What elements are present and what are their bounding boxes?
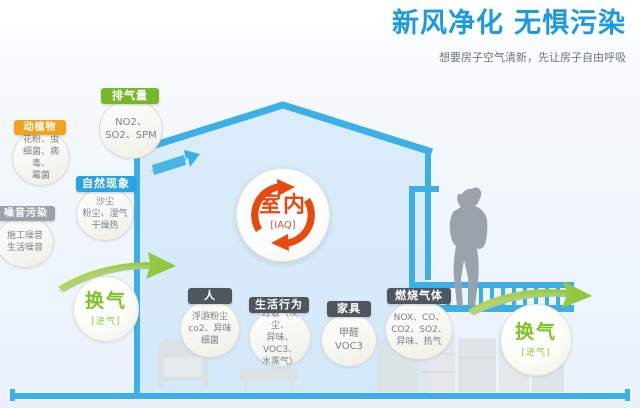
source-bubble-animals-plants: 花粉、虫 细菌、病毒、 霉菌	[12, 130, 70, 186]
header: 新风净化无惧污染 想要房子空气清新，先让房子自由呼吸	[392, 8, 626, 65]
source-bubble-living-behaviour: 过敏（灰尘、 异味、VOC3、 水蒸气）	[249, 309, 311, 367]
source-line: 水蒸气）	[254, 356, 306, 368]
source-bubble-people: 浮游粉尘 co2、异味 细菌	[180, 300, 240, 358]
source-tag-furniture: 家具	[327, 301, 371, 317]
page-subtitle: 想要房子空气清新，先让房子自由呼吸	[392, 49, 626, 65]
page-title-part2: 无惧污染	[514, 8, 626, 39]
source-line: 浮游粉尘	[188, 311, 231, 323]
source-line: 细菌	[188, 335, 231, 347]
source-line: 花粉、虫	[17, 134, 65, 146]
air-exchange-left-label: 换气	[85, 292, 127, 311]
page-title: 新风净化无惧污染	[392, 8, 626, 40]
air-exchange-right[interactable]: 换气 [进气]	[500, 304, 572, 376]
indoor-label: 室内	[237, 195, 329, 217]
air-exchange-right-sublabel: [进气]	[521, 345, 550, 358]
source-line: NOX、CO、	[391, 312, 447, 324]
source-line: 异味、VOC3、	[254, 332, 306, 356]
source-line: 粉尘、湿气	[82, 208, 127, 220]
source-bubble-combustion-gas: NOX、CO、 CO2、SO2、 异味、热气	[385, 300, 453, 360]
source-line: 异味、热气	[391, 336, 447, 348]
ground-line	[10, 393, 630, 399]
source-line: 甲醛	[335, 327, 363, 341]
air-exchange-left-sublabel: [进气]	[91, 314, 120, 327]
source-tag-living-behaviour: 生活行为	[249, 297, 309, 313]
source-bubble-exhaust: NO2、 SO2、SPM	[99, 99, 163, 159]
source-line: 施工噪音	[7, 230, 43, 242]
source-tag-natural-phenomena: 自然现象	[76, 176, 136, 192]
source-line: 细菌、病毒、	[17, 146, 65, 170]
source-line: NO2、	[105, 116, 157, 130]
source-line: co2、异味	[188, 323, 231, 335]
source-tag-people: 人	[188, 288, 232, 304]
source-line: CO2、SO2、	[391, 324, 447, 336]
source-line: 霉菌	[17, 170, 65, 182]
indoor-air-quality-badge[interactable]: 室内 [IAQ]	[236, 168, 330, 262]
indoor-sublabel: [IAQ]	[237, 220, 329, 231]
page-title-part1: 新风净化	[392, 8, 504, 39]
indoor-air-quality-text: 室内 [IAQ]	[237, 195, 329, 231]
source-line: 生活噪音	[7, 242, 43, 254]
source-tag-combustion-gas: 燃烧气体	[387, 288, 451, 304]
source-line: VOC3	[335, 340, 363, 354]
air-exchange-right-label: 换气	[515, 323, 557, 342]
source-tag-exhaust: 排气量	[101, 88, 159, 104]
source-tag-animals-plants: 动植物	[14, 120, 66, 135]
air-exchange-left[interactable]: 换气 [进气]	[73, 276, 139, 342]
source-bubble-furniture: 甲醛 VOC3	[321, 313, 377, 367]
source-line: SO2、SPM	[105, 129, 157, 143]
source-tag-noise-pollution: 噪音污染	[0, 206, 55, 221]
source-line: 沙尘	[82, 196, 127, 208]
source-line: 干燥热	[82, 220, 127, 232]
source-bubble-natural-phenomena: 沙尘 粉尘、湿气 干燥热	[76, 187, 134, 241]
infographic-canvas: 新风净化无惧污染 想要房子空气清新，先让房子自由呼吸 排气量 NO2、 SO2、…	[0, 0, 640, 408]
